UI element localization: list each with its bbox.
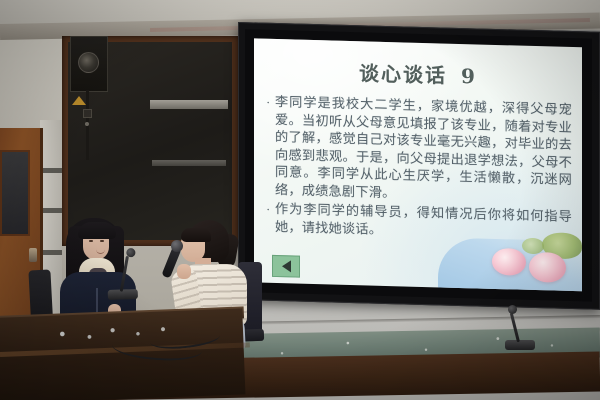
jamb-shelf bbox=[42, 208, 62, 213]
door-glass-panel bbox=[0, 150, 30, 236]
triangle-glyph bbox=[282, 260, 291, 272]
eye bbox=[100, 240, 104, 242]
rose-flower bbox=[529, 252, 566, 283]
speaker-cone-icon bbox=[78, 52, 99, 73]
bullet-marker: · bbox=[266, 94, 275, 199]
eye bbox=[89, 240, 93, 242]
microphone-base bbox=[505, 340, 535, 350]
hand bbox=[177, 264, 191, 279]
hair-bangs bbox=[78, 222, 116, 239]
list-item: · 作为李同学的辅导员，得知情况后你将如何指导她，请找她谈话。 bbox=[266, 201, 572, 244]
blackboard-shelf bbox=[152, 160, 226, 166]
slide-bullet-list: · 李同学是我校大二学生，家境优越，深得父母宠爱。当初听从父母意见填报了该专业，… bbox=[266, 94, 572, 244]
microphone-head-icon bbox=[508, 305, 517, 314]
microphone-head-icon bbox=[171, 240, 183, 252]
yellow-triangle-marker-icon bbox=[72, 96, 86, 105]
jamb-shelf bbox=[42, 168, 62, 173]
slide-title: 谈心谈话9 bbox=[254, 54, 582, 92]
projection-screen: 谈心谈话9 · 李同学是我校大二学生，家境优越，深得父母宠爱。当初听从父母意见填… bbox=[238, 22, 600, 310]
wall-dot bbox=[85, 122, 89, 126]
slide-title-text: 谈心谈话 bbox=[359, 61, 447, 87]
chalk-tray bbox=[150, 100, 228, 109]
hair-fringe bbox=[181, 228, 211, 242]
bullet-text: 作为李同学的辅导员，得知情况后你将如何指导她，请找她谈话。 bbox=[275, 201, 572, 244]
bullet-text: 李同学是我校大二学生，家境优越，深得父母宠爱。当初听从父母意见填报了该专业，随着… bbox=[275, 94, 572, 207]
presentation-slide: 谈心谈话9 · 李同学是我校大二学生，家境优越，深得父母宠爱。当初听从父母意见填… bbox=[254, 38, 582, 291]
door-handle[interactable] bbox=[29, 248, 37, 262]
list-item: · 李同学是我校大二学生，家境优越，深得父母宠爱。当初听从父母意见填报了该专业，… bbox=[266, 94, 572, 207]
rose-flower bbox=[492, 248, 526, 276]
classroom-photo-scene: 谈心谈话9 · 李同学是我校大二学生，家境优越，深得父母宠爱。当初听从父母意见填… bbox=[0, 0, 600, 400]
media-play-back-icon[interactable] bbox=[272, 255, 300, 278]
screen-bezel: 谈心谈话9 · 李同学是我校大二学生，家境优越，深得父母宠爱。当初听从父母意见填… bbox=[245, 29, 592, 301]
wall-knob bbox=[83, 109, 92, 118]
slide-title-number: 9 bbox=[461, 64, 477, 88]
blue-cloth bbox=[438, 237, 582, 291]
